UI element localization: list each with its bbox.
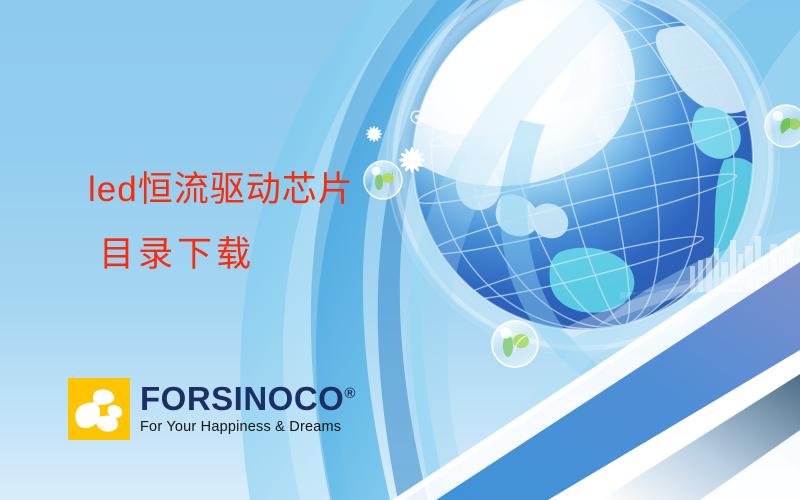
four-petal-pinwheel-icon xyxy=(68,378,130,440)
bubble-left-of-globe xyxy=(364,161,402,199)
logo-wordmark: FORSINOCO® xyxy=(140,382,355,415)
logo-wordmark-text: FORSINOCO xyxy=(140,380,344,417)
logo-mark xyxy=(68,378,130,440)
logo-tagline: For Your Happiness & Dreams xyxy=(140,420,355,435)
registered-trademark-icon: ® xyxy=(344,385,355,402)
promo-banner: led恒流驱动芯片 目录下载 FORSINOCO® xyxy=(0,0,800,500)
bubble-lower-center xyxy=(492,321,538,367)
company-logo: FORSINOCO® For Your Happiness & Dreams xyxy=(68,378,355,440)
logo-text-block: FORSINOCO® For Your Happiness & Dreams xyxy=(140,378,355,435)
bubble-top-right xyxy=(765,105,800,147)
